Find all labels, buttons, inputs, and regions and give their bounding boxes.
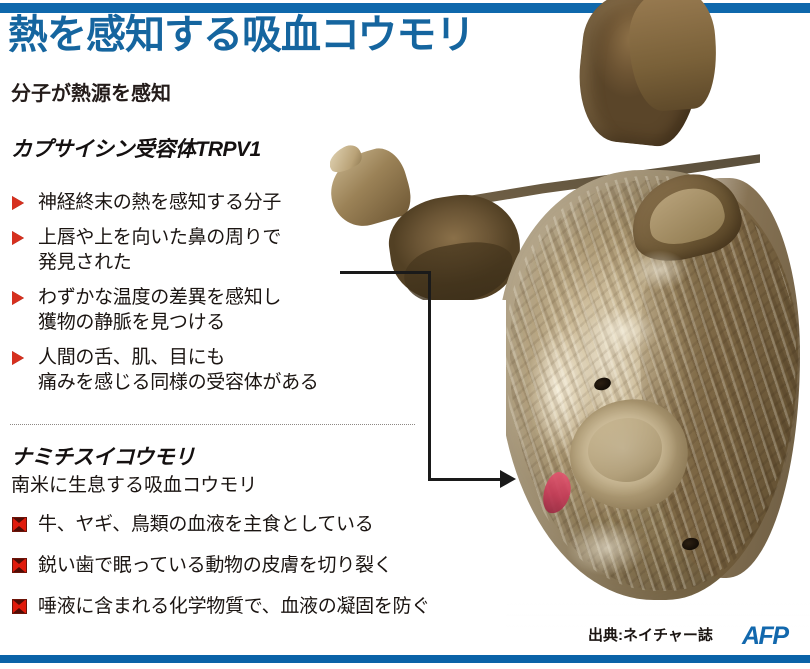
list-item-line: 獲物の静脈を見つける [38,310,411,335]
list-item: 牛、ヤギ、鳥類の血液を主食としている [11,512,451,537]
afp-logo: AFP [742,624,788,649]
callout-line-vertical [428,271,431,480]
callout-arrowhead-icon [500,470,516,488]
triangle-bullet-icon [12,351,24,365]
section-heading-species: ナミチスイコウモリ [11,446,195,470]
callout-line-horizontal-top [340,271,430,274]
page-title: 熱を感知する吸血コウモリ [8,12,474,58]
square-bullet-icon [12,599,27,614]
list-item: 上唇や上を向いた鼻の周りで 発見された [11,225,411,275]
square-bullet-icon [12,517,27,532]
list-item-line: 痛みを感じる同様の受容体がある [38,370,411,395]
triangle-bullet-icon [12,291,24,305]
source-credit: 出典:ネイチャー誌 [588,627,713,645]
list-item-line: 人間の舌、肌、目にも [38,345,411,370]
section-subheading-species: 南米に生息する吸血コウモリ [11,474,257,497]
bat-fur-highlight-3 [566,520,646,576]
section-divider [10,424,415,425]
section-heading-trpv1: カプサイシン受容体TRPV1 [11,138,261,162]
triangle-bullet-icon [12,231,24,245]
bat-nose-ridge [588,418,662,482]
list-item-line: 唾液に含まれる化学物質で、血液の凝固を防ぐ [38,594,451,619]
list-item: わずかな温度の差異を感知し 獲物の静脈を見つける [11,285,411,335]
species-bullet-list: 牛、ヤギ、鳥類の血液を主食としている 鋭い歯で眠っている動物の皮膚を切り裂く 唾… [11,512,451,635]
square-bullet-icon [12,558,27,573]
list-item-line: 牛、ヤギ、鳥類の血液を主食としている [38,512,451,537]
list-item: 人間の舌、肌、目にも 痛みを感じる同様の受容体がある [11,345,411,395]
list-item-line: 鋭い歯で眠っている動物の皮膚を切り裂く [38,553,451,578]
list-item-line: 上唇や上を向いた鼻の周りで [38,225,411,250]
bat-fur-highlight-2 [630,250,688,290]
list-item: 神経終末の熱を感知する分子 [11,190,411,215]
bat-fur-highlight-1 [588,308,658,354]
list-item-line: 神経終末の熱を感知する分子 [38,190,411,215]
triangle-bullet-icon [12,196,24,210]
list-item: 鋭い歯で眠っている動物の皮膚を切り裂く [11,553,451,578]
infographic-canvas: 熱を感知する吸血コウモリ 分子が熱源を感知 カプサイシン受容体TRPV1 神経終… [0,0,810,669]
page-subtitle: 分子が熱源を感知 [11,82,171,106]
list-item: 唾液に含まれる化学物質で、血液の凝固を防ぐ [11,594,451,619]
trpv1-bullet-list: 神経終末の熱を感知する分子 上唇や上を向いた鼻の周りで 発見された わずかな温度… [11,190,411,405]
list-item-line: わずかな温度の差異を感知し [38,285,411,310]
callout-line-horizontal-bottom [428,478,506,481]
bottom-brand-bar [0,655,810,663]
